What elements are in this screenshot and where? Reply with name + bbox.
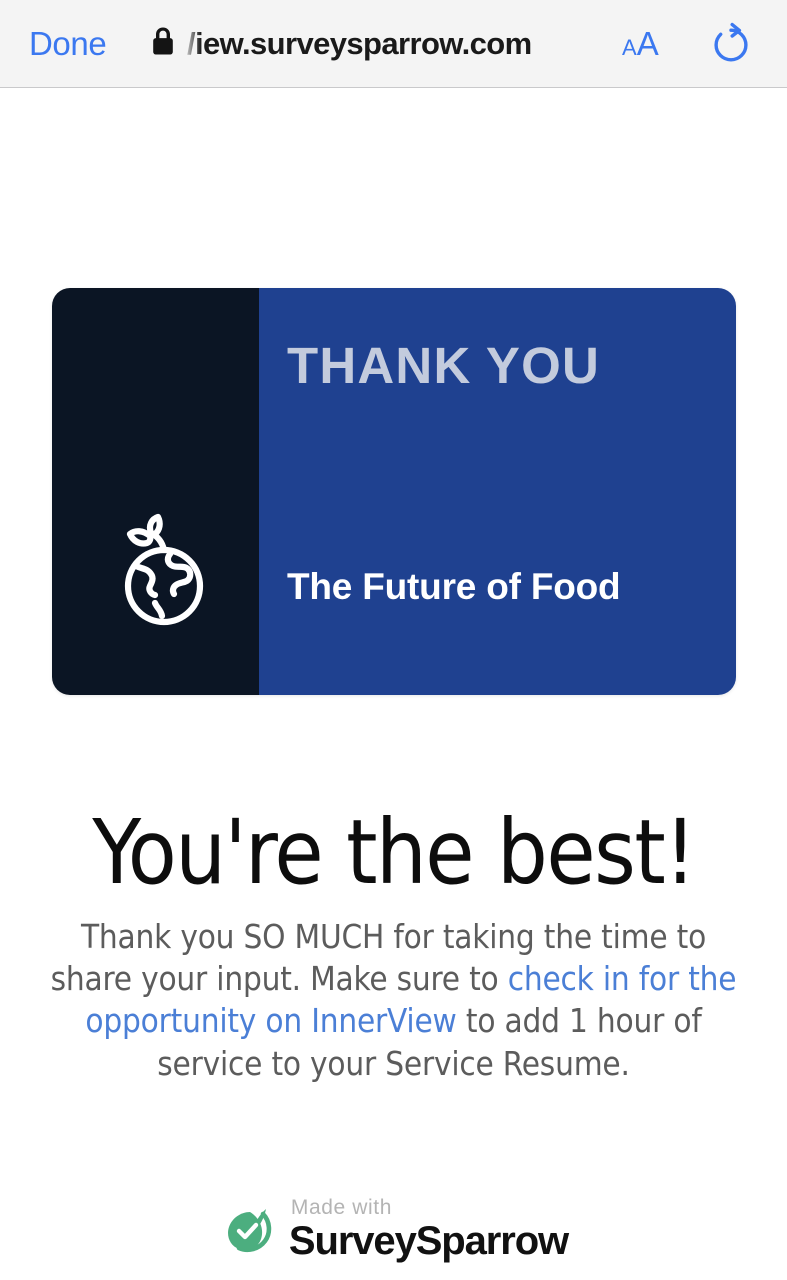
url-text: /iew.surveysparrow.com [187,26,532,62]
done-button[interactable]: Done [29,25,106,63]
safari-header-bar: Done /iew.surveysparrow.com AA [0,0,787,88]
thank-you-message: Thank you SO MUCH for taking the time to… [48,916,739,1085]
banner-subtitle-text: The Future of Food [287,566,620,608]
surveysparrow-wordmark: Made with SurveySparrow [289,1197,568,1261]
surveysparrow-leaf-check-icon [219,1200,277,1258]
blueberries-photo [52,288,259,695]
text-size-small-a: A [622,35,637,60]
text-size-button[interactable]: AA [622,27,659,60]
page-title: You're the best! [0,806,787,899]
banner-blue-panel: THANK YOU The Future of Food [259,288,736,695]
address-bar[interactable]: /iew.surveysparrow.com [150,17,595,71]
thank-you-banner-card: THANK YOU The Future of Food [52,288,736,695]
surveysparrow-brand-name: SurveySparrow [289,1221,568,1261]
globe-sprout-icon [98,504,216,629]
made-with-label: Made with [291,1197,392,1218]
lock-icon [150,25,176,62]
survey-thank-you-page: THANK YOU The Future of Food You're the … [0,89,787,1280]
made-with-surveysparrow-badge[interactable]: Made with SurveySparrow [0,1197,787,1261]
banner-thank-you-text: THANK YOU [287,340,736,391]
text-size-large-a: A [637,25,659,62]
reload-icon[interactable] [708,22,754,68]
